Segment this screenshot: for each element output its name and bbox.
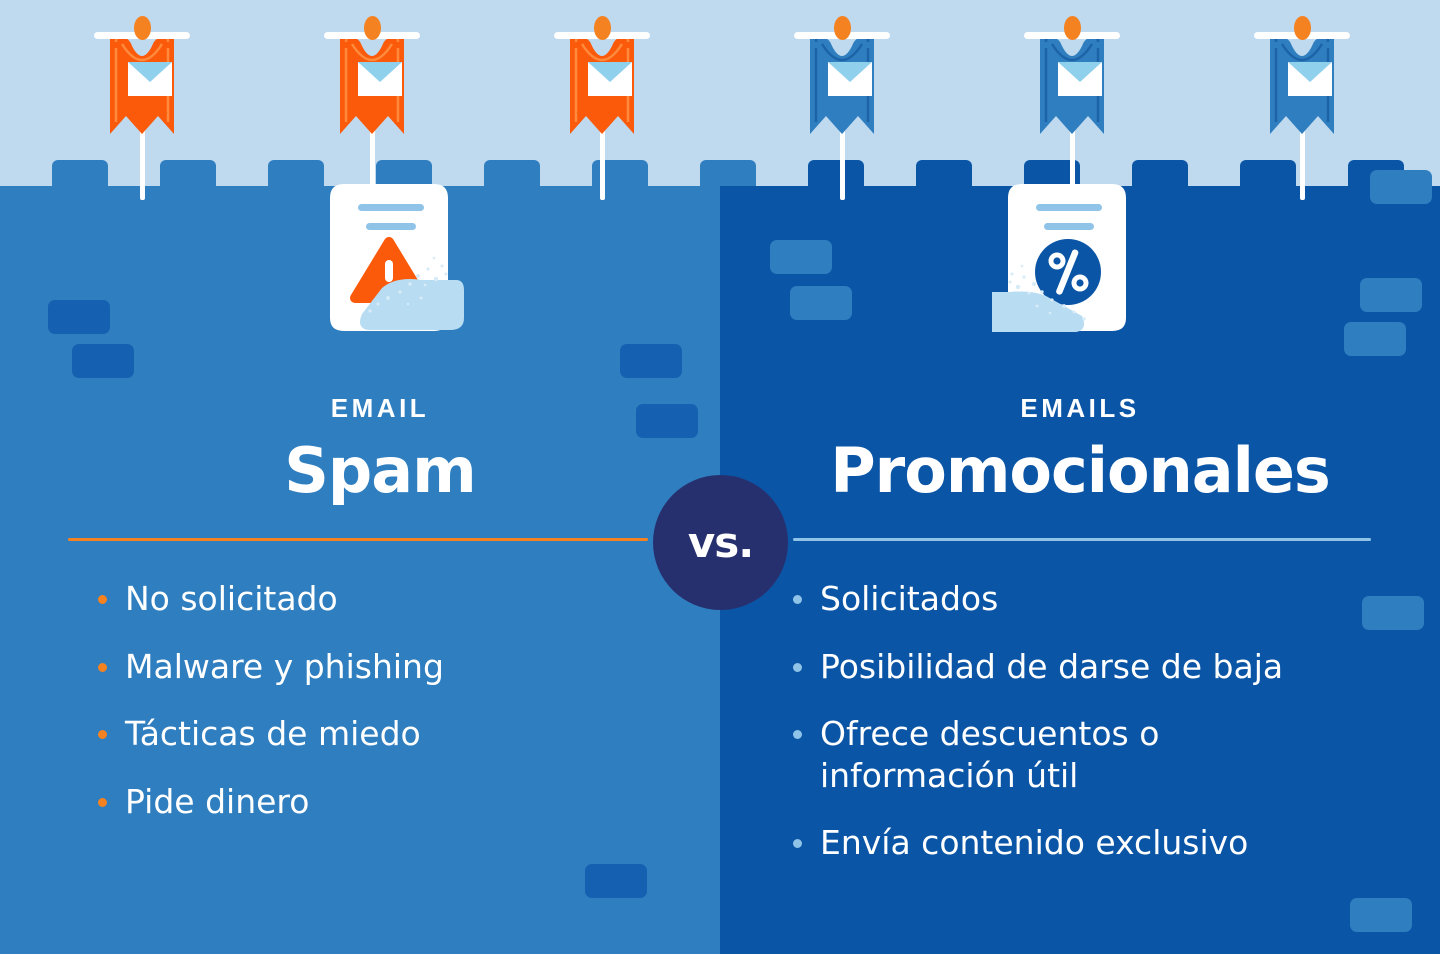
right-divider-rule bbox=[793, 538, 1371, 541]
list-item: Ofrece descuentos o información útil bbox=[793, 713, 1413, 796]
infographic-canvas: EMAIL Spam No solicitadoMalware y phishi… bbox=[0, 0, 1440, 954]
banner-finial bbox=[834, 16, 851, 40]
right-bullet-list: SolicitadosPosibilidad de darse de bajaO… bbox=[793, 578, 1413, 890]
brick bbox=[48, 300, 110, 334]
bullet-dot bbox=[793, 595, 802, 604]
merlon bbox=[700, 160, 756, 186]
list-item: Solicitados bbox=[793, 578, 1413, 620]
list-item-label: No solicitado bbox=[125, 578, 338, 620]
list-item-label: Posibilidad de darse de baja bbox=[820, 646, 1283, 688]
banner-finial bbox=[1064, 16, 1081, 40]
brick bbox=[1360, 278, 1422, 312]
list-item: No solicitado bbox=[98, 578, 658, 620]
list-item-label: Tácticas de miedo bbox=[125, 713, 421, 755]
brick bbox=[770, 240, 832, 274]
list-item-label: Pide dinero bbox=[125, 781, 309, 823]
bullet-dot bbox=[98, 730, 107, 739]
left-title: Spam bbox=[130, 440, 630, 502]
list-item-label: Envía contenido exclusivo bbox=[820, 822, 1248, 864]
brick bbox=[72, 344, 134, 378]
bullet-dot bbox=[793, 663, 802, 672]
brick bbox=[1350, 898, 1412, 932]
banner-finial bbox=[134, 16, 151, 40]
banner-flag bbox=[82, 0, 202, 200]
envelope-icon bbox=[828, 62, 872, 96]
bullet-dot bbox=[98, 595, 107, 604]
banner-finial bbox=[594, 16, 611, 40]
envelope-icon bbox=[128, 62, 172, 96]
bullet-dot bbox=[98, 663, 107, 672]
banner-flag bbox=[1012, 0, 1132, 200]
bullet-dot bbox=[98, 798, 107, 807]
merlon bbox=[484, 160, 540, 186]
left-kicker: EMAIL bbox=[180, 393, 580, 424]
list-item-label: Malware y phishing bbox=[125, 646, 444, 688]
bullet-dot bbox=[793, 839, 802, 848]
list-item: Posibilidad de darse de baja bbox=[793, 646, 1413, 688]
sky-background bbox=[0, 0, 1440, 186]
banner-flag bbox=[1242, 0, 1362, 200]
merlon bbox=[916, 160, 972, 186]
warning-document-icon bbox=[322, 180, 464, 335]
brick bbox=[585, 864, 647, 898]
banner-flag bbox=[542, 0, 662, 200]
banner-flag bbox=[312, 0, 432, 200]
banner-flag bbox=[782, 0, 902, 200]
brick bbox=[790, 286, 852, 320]
right-kicker: EMAILS bbox=[880, 393, 1280, 424]
left-divider-rule bbox=[68, 538, 648, 541]
brick bbox=[1344, 322, 1406, 356]
envelope-icon bbox=[588, 62, 632, 96]
merlon bbox=[1132, 160, 1188, 186]
brick bbox=[620, 344, 682, 378]
left-bullet-list: No solicitadoMalware y phishingTácticas … bbox=[98, 578, 658, 848]
list-item: Malware y phishing bbox=[98, 646, 658, 688]
brick bbox=[1370, 170, 1432, 204]
banner-finial bbox=[1294, 16, 1311, 40]
list-item-label: Ofrece descuentos o información útil bbox=[820, 713, 1159, 796]
right-title: Promocionales bbox=[780, 440, 1380, 502]
brick bbox=[636, 404, 698, 438]
list-item: Tácticas de miedo bbox=[98, 713, 658, 755]
list-item: Pide dinero bbox=[98, 781, 658, 823]
envelope-icon bbox=[358, 62, 402, 96]
versus-badge: vs. bbox=[653, 475, 788, 610]
envelope-icon bbox=[1058, 62, 1102, 96]
envelope-icon bbox=[1288, 62, 1332, 96]
bullet-dot bbox=[793, 730, 802, 739]
banner-finial bbox=[364, 16, 381, 40]
list-item-label: Solicitados bbox=[820, 578, 998, 620]
versus-label: vs. bbox=[688, 518, 753, 567]
percent-document-icon bbox=[992, 180, 1134, 335]
list-item: Envía contenido exclusivo bbox=[793, 822, 1413, 864]
